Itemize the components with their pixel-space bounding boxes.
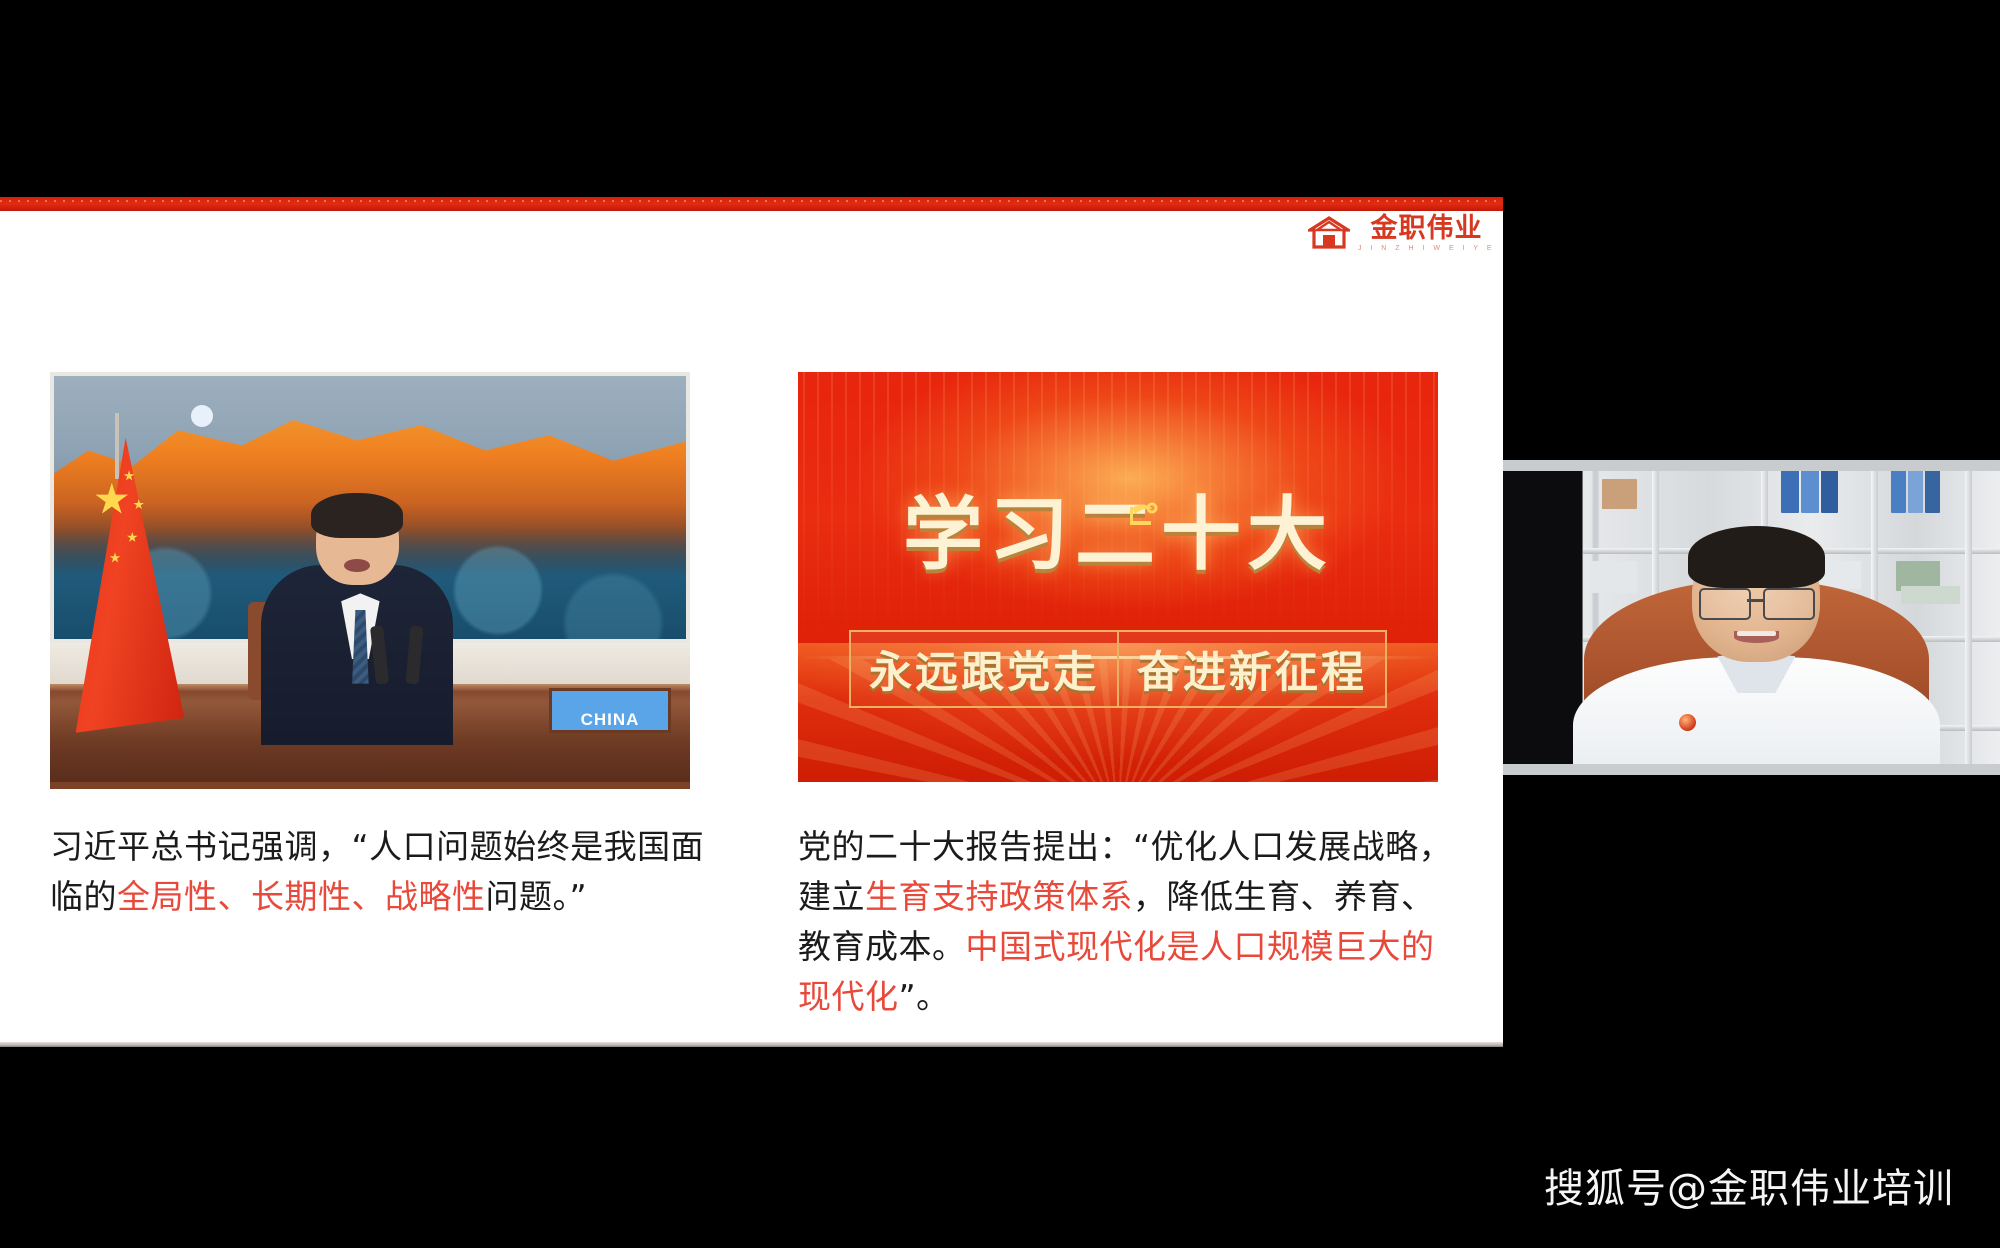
- speaker-hair: [311, 493, 403, 538]
- slide-right-column: 学习二十大 永远跟党走 奋进新征程: [798, 372, 1438, 782]
- caption-text: ”。: [899, 977, 950, 1016]
- mural-highlight-left: [191, 405, 213, 427]
- cabinet-divider: [1965, 460, 1972, 775]
- book: [1925, 469, 1940, 513]
- right-caption: 党的二十大报告提出：“优化人口发展战略，建立生育支持政策体系，降低生育、养育、教…: [798, 822, 1453, 1023]
- brand-subtitle: J I N Z H I W E I Y E: [1358, 245, 1495, 252]
- book: [1801, 469, 1818, 513]
- channel-watermark: 搜狐号@金职伟业培训: [1544, 1156, 1954, 1214]
- book: [1901, 586, 1961, 604]
- caption-highlight: 全局性、长期性、战略性: [117, 877, 486, 916]
- shared-slide: 金职伟业 J I N Z H I W E I Y E: [0, 197, 1503, 1047]
- screen-capture: 金职伟业 J I N Z H I W E I Y E: [0, 0, 2000, 1248]
- flag-pole: [115, 413, 119, 479]
- glasses-lens-left: [1699, 588, 1750, 620]
- glasses-bridge: [1747, 599, 1764, 602]
- party-emblem-icon: [1121, 495, 1163, 537]
- speaker-mouth: [344, 559, 370, 572]
- poster-title: 学习二十大: [798, 495, 1438, 575]
- presenter-video-tile[interactable]: [1503, 460, 2000, 775]
- left-caption: 习近平总书记强调，“人口问题始终是我国面临的全局性、长期性、战略性问题。”: [50, 822, 705, 922]
- slide-top-accent-bar: [0, 197, 1503, 211]
- caption-text: 问题。”: [486, 877, 588, 916]
- party-badge-icon: [1679, 714, 1696, 731]
- leader-speech-photo: CHINA: [50, 372, 690, 789]
- book: [1908, 469, 1923, 513]
- video-letterbox-top: [1503, 460, 2000, 471]
- study-20th-congress-poster: 学习二十大 永远跟党走 奋进新征程: [798, 372, 1438, 782]
- book: [1891, 469, 1906, 513]
- slide-bottom-accent-bar: [0, 1042, 1503, 1047]
- decor-item: [1602, 479, 1637, 509]
- poster-slogan-banner: 永远跟党走 奋进新征程: [849, 630, 1387, 708]
- presenter-figure: [1617, 523, 1895, 775]
- slide-left-column: CHINA: [50, 372, 690, 789]
- glasses-lens-right: [1763, 588, 1814, 620]
- nameplate-label: CHINA: [581, 711, 640, 730]
- poster-slogan-left: 永远跟党走: [851, 632, 1117, 706]
- brand-logo: 金职伟业 J I N Z H I W E I Y E: [1308, 213, 1495, 253]
- video-letterbox-bottom: [1503, 764, 2000, 775]
- caption-highlight: 生育支持政策体系: [865, 877, 1133, 916]
- house-logo-icon: [1308, 216, 1350, 250]
- country-nameplate: CHINA: [549, 688, 671, 733]
- book: [1781, 469, 1798, 513]
- brand-name: 金职伟业: [1370, 215, 1482, 242]
- poster-slogan-right: 奋进新征程: [1117, 632, 1385, 706]
- presenter-hair: [1688, 526, 1824, 588]
- book: [1821, 469, 1838, 513]
- presenter-mouth: [1734, 631, 1779, 643]
